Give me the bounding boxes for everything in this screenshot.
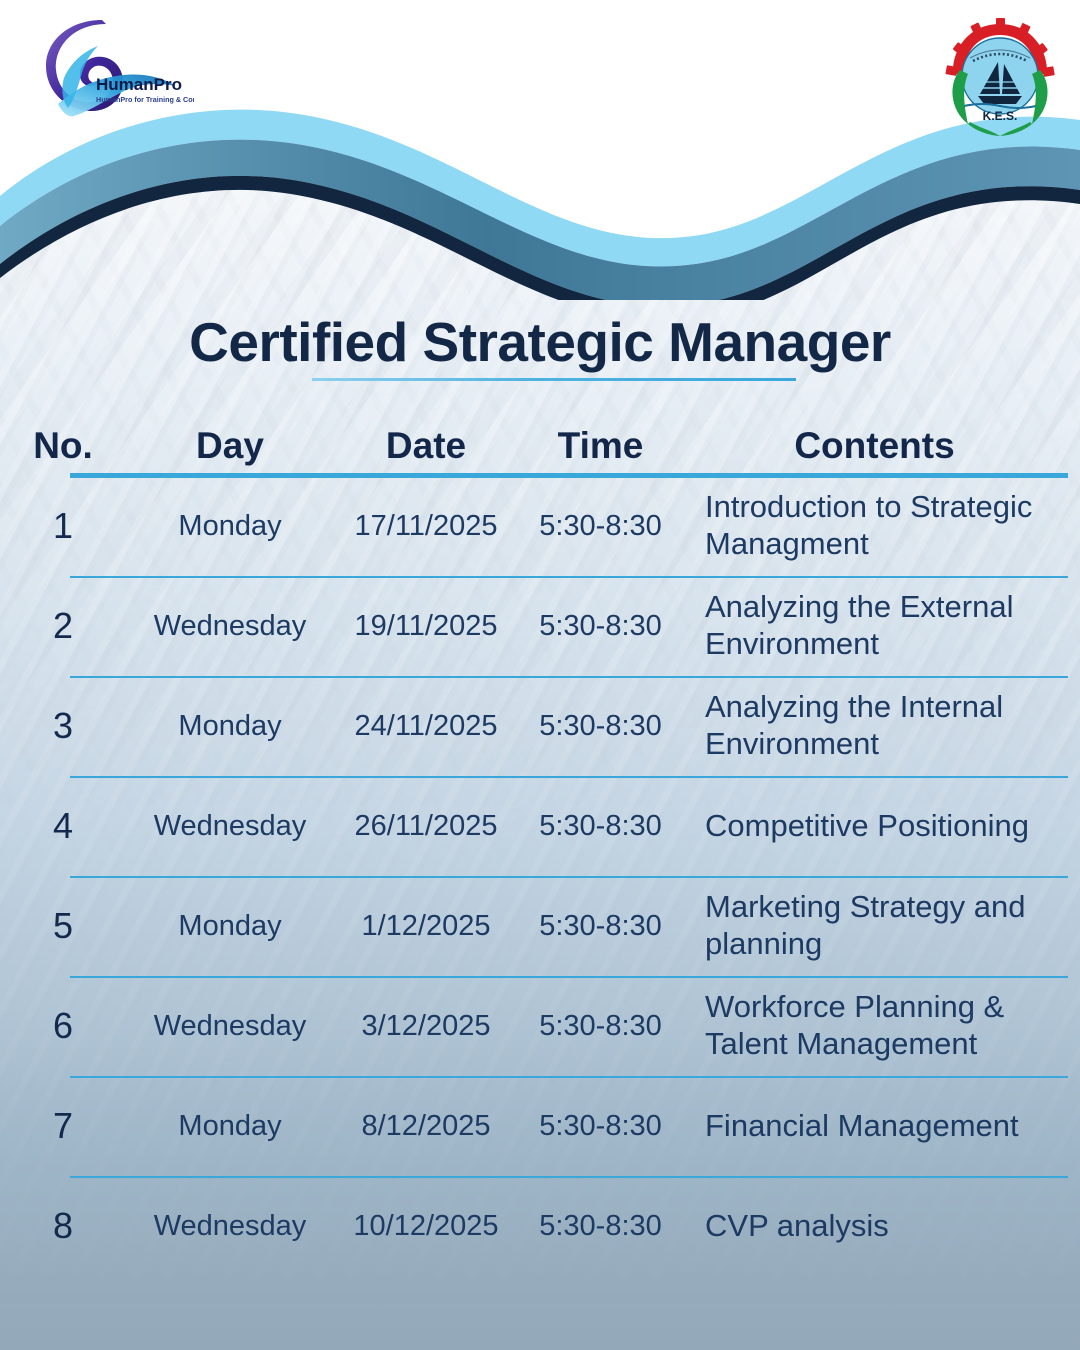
cell-contents: Competitive Positioning xyxy=(683,808,1080,845)
cell-date: 19/11/2025 xyxy=(334,609,518,643)
cell-time: 5:30-8:30 xyxy=(518,1209,683,1243)
cell-time: 5:30-8:30 xyxy=(518,1009,683,1043)
cell-date: 10/12/2025 xyxy=(334,1209,518,1243)
cell-contents: CVP analysis xyxy=(683,1208,1080,1245)
row-separator xyxy=(70,576,1068,578)
schedule-table: No. Day Date Time Contents 1Monday17/11/… xyxy=(0,405,1080,1276)
cell-no: 4 xyxy=(0,805,126,847)
title-underline xyxy=(312,378,796,381)
cell-time: 5:30-8:30 xyxy=(518,809,683,843)
cell-contents: Introduction to Strategic Managment xyxy=(683,489,1080,562)
cell-no: 7 xyxy=(0,1105,126,1147)
cell-time: 5:30-8:30 xyxy=(518,509,683,543)
column-header-day: Day xyxy=(126,425,334,467)
table-row: 1Monday17/11/20255:30-8:30Introduction t… xyxy=(0,476,1080,576)
cell-day: Monday xyxy=(126,509,334,543)
cell-day: Wednesday xyxy=(126,1009,334,1043)
cell-contents: Marketing Strategy and planning xyxy=(683,889,1080,962)
cell-no: 6 xyxy=(0,1005,126,1047)
kes-logo: K.E.S. xyxy=(944,18,1056,136)
table-row: 4Wednesday26/11/20255:30-8:30Competitive… xyxy=(0,776,1080,876)
cell-time: 5:30-8:30 xyxy=(518,709,683,743)
table-row: 8Wednesday10/12/20255:30-8:30CVP analysi… xyxy=(0,1176,1080,1276)
cell-day: Wednesday xyxy=(126,609,334,643)
cell-day: Monday xyxy=(126,909,334,943)
cell-day: Wednesday xyxy=(126,809,334,843)
column-header-date: Date xyxy=(334,425,518,467)
table-row: 3Monday24/11/20255:30-8:30Analyzing the … xyxy=(0,676,1080,776)
cell-date: 17/11/2025 xyxy=(334,509,518,543)
kes-wordmark: K.E.S. xyxy=(983,109,1018,123)
cell-date: 8/12/2025 xyxy=(334,1109,518,1143)
cell-no: 3 xyxy=(0,705,126,747)
cell-time: 5:30-8:30 xyxy=(518,1109,683,1143)
cell-contents: Financial Management xyxy=(683,1108,1080,1145)
table-row: 7Monday8/12/20255:30-8:30Financial Manag… xyxy=(0,1076,1080,1176)
cell-no: 8 xyxy=(0,1205,126,1247)
cell-no: 5 xyxy=(0,905,126,947)
row-separator xyxy=(70,476,1068,478)
kes-gear-dhow-wreath-emblem: K.E.S. xyxy=(944,18,1056,136)
cell-date: 24/11/2025 xyxy=(334,709,518,743)
row-separator xyxy=(70,776,1068,778)
cell-date: 1/12/2025 xyxy=(334,909,518,943)
cell-contents: Analyzing the Internal Environment xyxy=(683,689,1080,762)
cell-day: Wednesday xyxy=(126,1209,334,1243)
column-header-contents: Contents xyxy=(683,425,1080,467)
table-row: 5Monday1/12/20255:30-8:30Marketing Strat… xyxy=(0,876,1080,976)
page-title: Certified Strategic Manager xyxy=(0,310,1080,374)
row-separator xyxy=(70,676,1068,678)
cell-no: 2 xyxy=(0,605,126,647)
course-schedule-poster: HumanPro HumanPro for Training & Consult… xyxy=(0,0,1080,1350)
humanpro-tagline: HumanPro for Training & Consultancy xyxy=(96,95,194,104)
spiral-wave-logo: HumanPro HumanPro for Training & Consult… xyxy=(44,18,194,123)
cell-date: 3/12/2025 xyxy=(334,1009,518,1043)
row-separator xyxy=(70,1076,1068,1078)
table-header-row: No. Day Date Time Contents xyxy=(0,405,1080,467)
table-row: 2Wednesday19/11/20255:30-8:30Analyzing t… xyxy=(0,576,1080,676)
cell-date: 26/11/2025 xyxy=(334,809,518,843)
cell-day: Monday xyxy=(126,709,334,743)
cell-day: Monday xyxy=(126,1109,334,1143)
cell-contents: Workforce Planning & Talent Management xyxy=(683,989,1080,1062)
table-body: 1Monday17/11/20255:30-8:30Introduction t… xyxy=(0,476,1080,1276)
cell-time: 5:30-8:30 xyxy=(518,909,683,943)
row-separator xyxy=(70,976,1068,978)
humanpro-wordmark: HumanPro xyxy=(96,75,182,94)
row-separator xyxy=(70,1176,1068,1178)
column-header-time: Time xyxy=(518,425,683,467)
humanpro-logo: HumanPro HumanPro for Training & Consult… xyxy=(44,18,194,123)
cell-contents: Analyzing the External Environment xyxy=(683,589,1080,662)
table-row: 6Wednesday3/12/20255:30-8:30Workforce Pl… xyxy=(0,976,1080,1076)
column-header-no: No. xyxy=(0,425,126,467)
cell-time: 5:30-8:30 xyxy=(518,609,683,643)
row-separator xyxy=(70,876,1068,878)
cell-no: 1 xyxy=(0,505,126,547)
